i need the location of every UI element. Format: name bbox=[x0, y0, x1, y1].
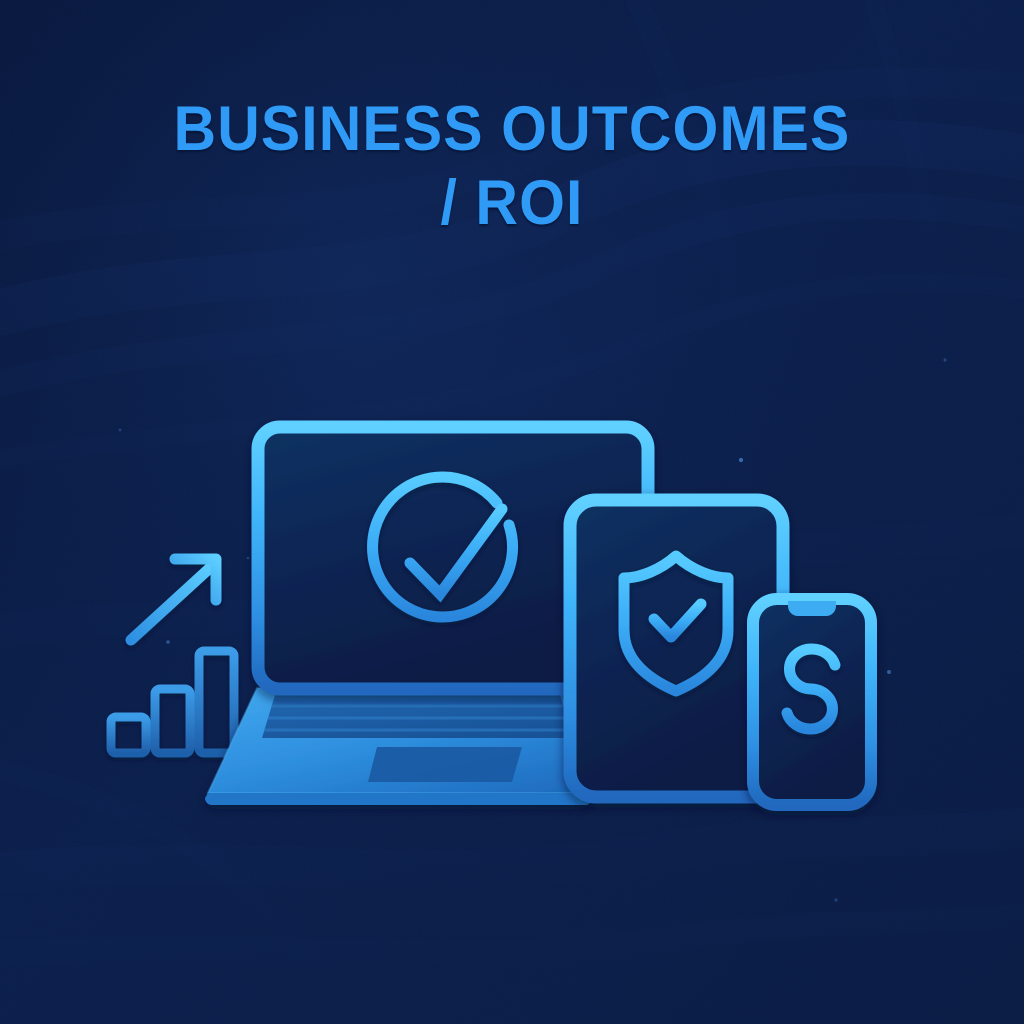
poster-canvas: BUSINESS OUTCOMES / ROI bbox=[0, 0, 1024, 1024]
phone-notch bbox=[788, 601, 836, 616]
bar-chart-icon bbox=[111, 651, 234, 753]
devices-roi-illustration bbox=[0, 0, 1024, 1024]
trending-up-arrow-icon bbox=[131, 559, 216, 640]
laptop-trackpad bbox=[368, 747, 522, 782]
chart-bar-1 bbox=[111, 717, 146, 753]
smartphone-icon bbox=[753, 599, 871, 805]
chart-bar-2 bbox=[155, 689, 190, 753]
laptop-base-lip bbox=[205, 793, 592, 805]
chart-bar-3 bbox=[199, 651, 234, 753]
